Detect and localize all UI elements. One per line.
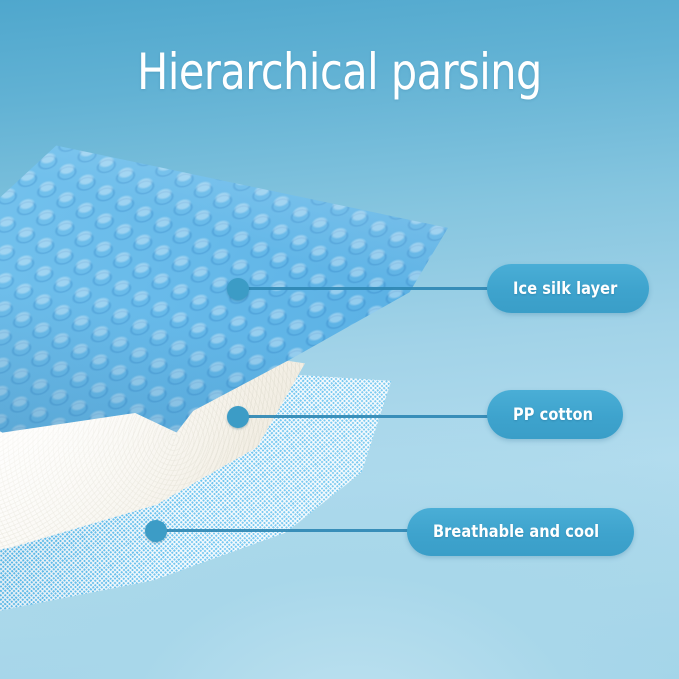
layer-stack-illustration bbox=[0, 130, 520, 640]
callout-dot-breathable bbox=[145, 520, 167, 542]
callout-text-breathable: Breathable and cool bbox=[433, 522, 599, 542]
callout-text-pp-cotton: PP cotton bbox=[513, 405, 593, 425]
page-title: Hierarchical parsing bbox=[27, 43, 652, 101]
callout-label-breathable[interactable]: Breathable and cool bbox=[407, 508, 634, 556]
callout-dot-pp-cotton bbox=[227, 406, 249, 428]
callout-dot-ice-silk bbox=[227, 278, 249, 300]
leader-line-breathable bbox=[162, 529, 422, 532]
callout-label-ice-silk[interactable]: Ice silk layer bbox=[487, 264, 649, 313]
infographic-canvas: Hierarchical parsing Ice silk layer PP c… bbox=[0, 0, 679, 679]
callout-text-ice-silk: Ice silk layer bbox=[513, 279, 617, 299]
leader-line-pp-cotton bbox=[244, 415, 506, 418]
callout-label-pp-cotton[interactable]: PP cotton bbox=[487, 390, 623, 439]
leader-line-ice-silk bbox=[244, 287, 506, 290]
